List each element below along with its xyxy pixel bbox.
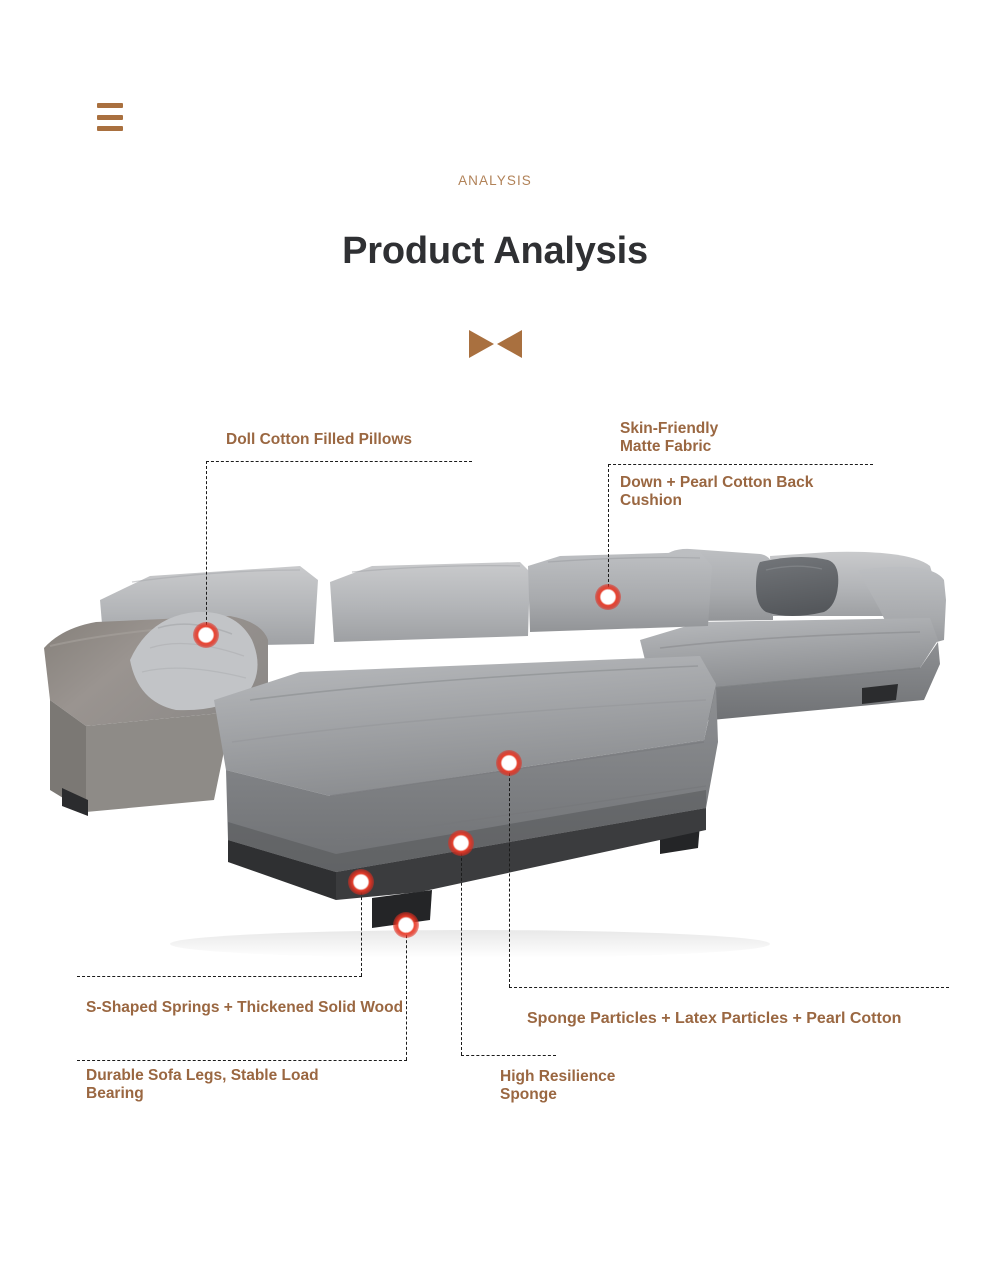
callout-high-resilience-sponge: High Resilience Sponge [500,1068,615,1105]
connector-high-resilience-vertical [461,843,462,1055]
connector-back-cushion-vertical [608,464,609,597]
connector-sofa-legs-horizontal [77,1060,407,1061]
callout-durable-sofa-legs: Durable Sofa Legs, Stable Load Bearing [86,1067,319,1104]
hotspot-down-pearl-cotton-back-cushion[interactable] [595,584,621,610]
connector-sofa-legs-vertical [406,925,407,1060]
connector-doll-cotton-vertical [206,461,207,635]
hotspot-doll-cotton-filled-pillows[interactable] [193,622,219,648]
hotspot-sponge-latex-pearl-cotton[interactable] [496,750,522,776]
callout-skin-friendly-matte-fabric: Skin-Friendly Matte Fabric [620,420,718,457]
hotspot-high-resilience-sponge[interactable] [448,830,474,856]
connector-springs-horizontal [77,976,362,977]
product-analysis-diagram: Doll Cotton Filled Pillows Skin-Friendly… [0,0,990,1283]
connector-springs-vertical [361,882,362,976]
hotspot-durable-sofa-legs[interactable] [393,912,419,938]
connector-high-resilience-horizontal [461,1055,556,1056]
connector-sponge-latex-horizontal [509,987,949,988]
callout-sponge-latex-pearl-cotton: Sponge Particles + Latex Particles + Pea… [527,1010,901,1029]
connector-sponge-latex-vertical [509,763,510,987]
callout-s-shaped-springs: S-Shaped Springs + Thickened Solid Wood [86,999,403,1017]
callout-doll-cotton-filled-pillows: Doll Cotton Filled Pillows [226,431,412,449]
connector-doll-cotton-horizontal [206,461,472,462]
connector-back-cushion-horizontal [608,464,873,465]
callout-down-pearl-cotton-back-cushion: Down + Pearl Cotton Back Cushion [620,474,813,511]
hotspot-s-shaped-springs[interactable] [348,869,374,895]
